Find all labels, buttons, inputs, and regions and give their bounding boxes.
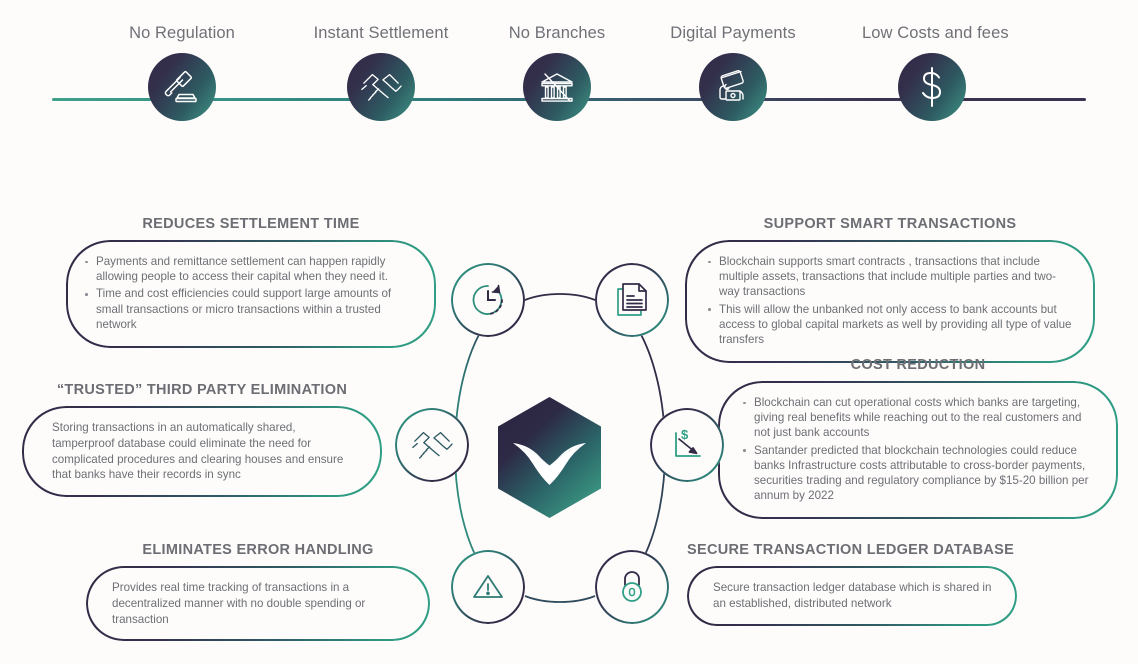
card-body: Secure transaction ledger database which… — [687, 566, 1017, 626]
hub-wheel: $ — [415, 250, 705, 640]
handshake-icon — [347, 53, 415, 121]
declining-cost-chart-icon: $ — [668, 426, 706, 464]
card-body: Provides real time tracking of transacti… — [86, 566, 430, 641]
top-item-label: Low Costs and fees — [862, 24, 1002, 43]
hub-node-warning[interactable] — [451, 550, 525, 624]
card-eliminates-error-handling: ELIMINATES ERROR HANDLING Provides real … — [86, 542, 430, 641]
top-item-low-costs-and-fees[interactable]: Low Costs and fees — [862, 24, 1002, 121]
card-title: SUPPORT SMART TRANSACTIONS — [685, 216, 1095, 232]
infographic-canvas: No Regulation Instant Settlement — [0, 0, 1138, 664]
hub-node-documents[interactable] — [595, 263, 669, 337]
card-secure-transaction-ledger-database: SECURE TRANSACTION LEDGER DATABASE Secur… — [687, 542, 1017, 626]
card-title: ELIMINATES ERROR HANDLING — [86, 542, 430, 558]
top-item-label: Digital Payments — [663, 24, 803, 43]
card-body: Blockchain can cut operational costs whi… — [718, 381, 1118, 519]
hand-holding-card-icon — [699, 53, 767, 121]
warning-triangle-icon — [469, 570, 507, 604]
top-item-label: No Regulation — [112, 24, 252, 43]
card-body: Payments and remittance settlement can h… — [66, 240, 436, 348]
card-title: COST REDUCTION — [718, 357, 1118, 373]
padlock-icon — [615, 567, 649, 607]
wings-hexagon-logo — [493, 395, 606, 521]
svg-text:$: $ — [681, 427, 689, 442]
card-paragraph: Storing transactions in an automatically… — [52, 420, 358, 483]
dollar-sign-icon — [898, 53, 966, 121]
top-item-no-regulation[interactable]: No Regulation — [112, 24, 252, 121]
card-title: “TRUSTED” THIRD PARTY ELIMINATION — [22, 382, 382, 398]
card-bullet: Time and cost efficiencies could support… — [84, 286, 416, 332]
hub-node-handshake[interactable] — [395, 408, 469, 482]
card-bullet: Blockchain supports smart contracts , tr… — [707, 254, 1075, 300]
card-reduces-settlement-time: REDUCES SETTLEMENT TIME Payments and rem… — [66, 216, 436, 348]
top-item-label: No Branches — [487, 24, 627, 43]
hub-node-clock[interactable] — [451, 263, 525, 337]
card-body: Storing transactions in an automatically… — [22, 406, 382, 497]
documents-icon — [614, 280, 650, 320]
card-paragraph: Secure transaction ledger database which… — [713, 580, 997, 612]
card-bullet: Santander predicted that blockchain tech… — [742, 443, 1098, 504]
card-bullet: Blockchain can cut operational costs whi… — [742, 395, 1098, 441]
hub-node-padlock[interactable] — [595, 550, 669, 624]
card-bullet: This will allow the unbanked not only ac… — [707, 302, 1075, 348]
card-title: REDUCES SETTLEMENT TIME — [66, 216, 436, 232]
card-bullet: Payments and remittance settlement can h… — [84, 254, 416, 284]
card-trusted-third-party-elimination: “TRUSTED” THIRD PARTY ELIMINATION Storin… — [22, 382, 382, 497]
card-title: SECURE TRANSACTION LEDGER DATABASE — [687, 542, 1017, 558]
top-item-instant-settlement[interactable]: Instant Settlement — [311, 24, 451, 121]
card-support-smart-transactions: SUPPORT SMART TRANSACTIONS Blockchain su… — [685, 216, 1095, 363]
clock-history-icon — [468, 280, 508, 320]
no-bank-branch-icon — [523, 53, 591, 121]
top-item-no-branches[interactable]: No Branches — [487, 24, 627, 121]
card-body: Blockchain supports smart contracts , tr… — [685, 240, 1095, 363]
top-item-digital-payments[interactable]: Digital Payments — [663, 24, 803, 121]
card-paragraph: Provides real time tracking of transacti… — [112, 580, 410, 627]
card-cost-reduction: COST REDUCTION Blockchain can cut operat… — [718, 357, 1118, 519]
gavel-icon — [148, 53, 216, 121]
top-item-label: Instant Settlement — [311, 24, 451, 43]
hub-node-cost-chart[interactable]: $ — [650, 408, 724, 482]
handshake-outline-icon — [411, 427, 453, 463]
